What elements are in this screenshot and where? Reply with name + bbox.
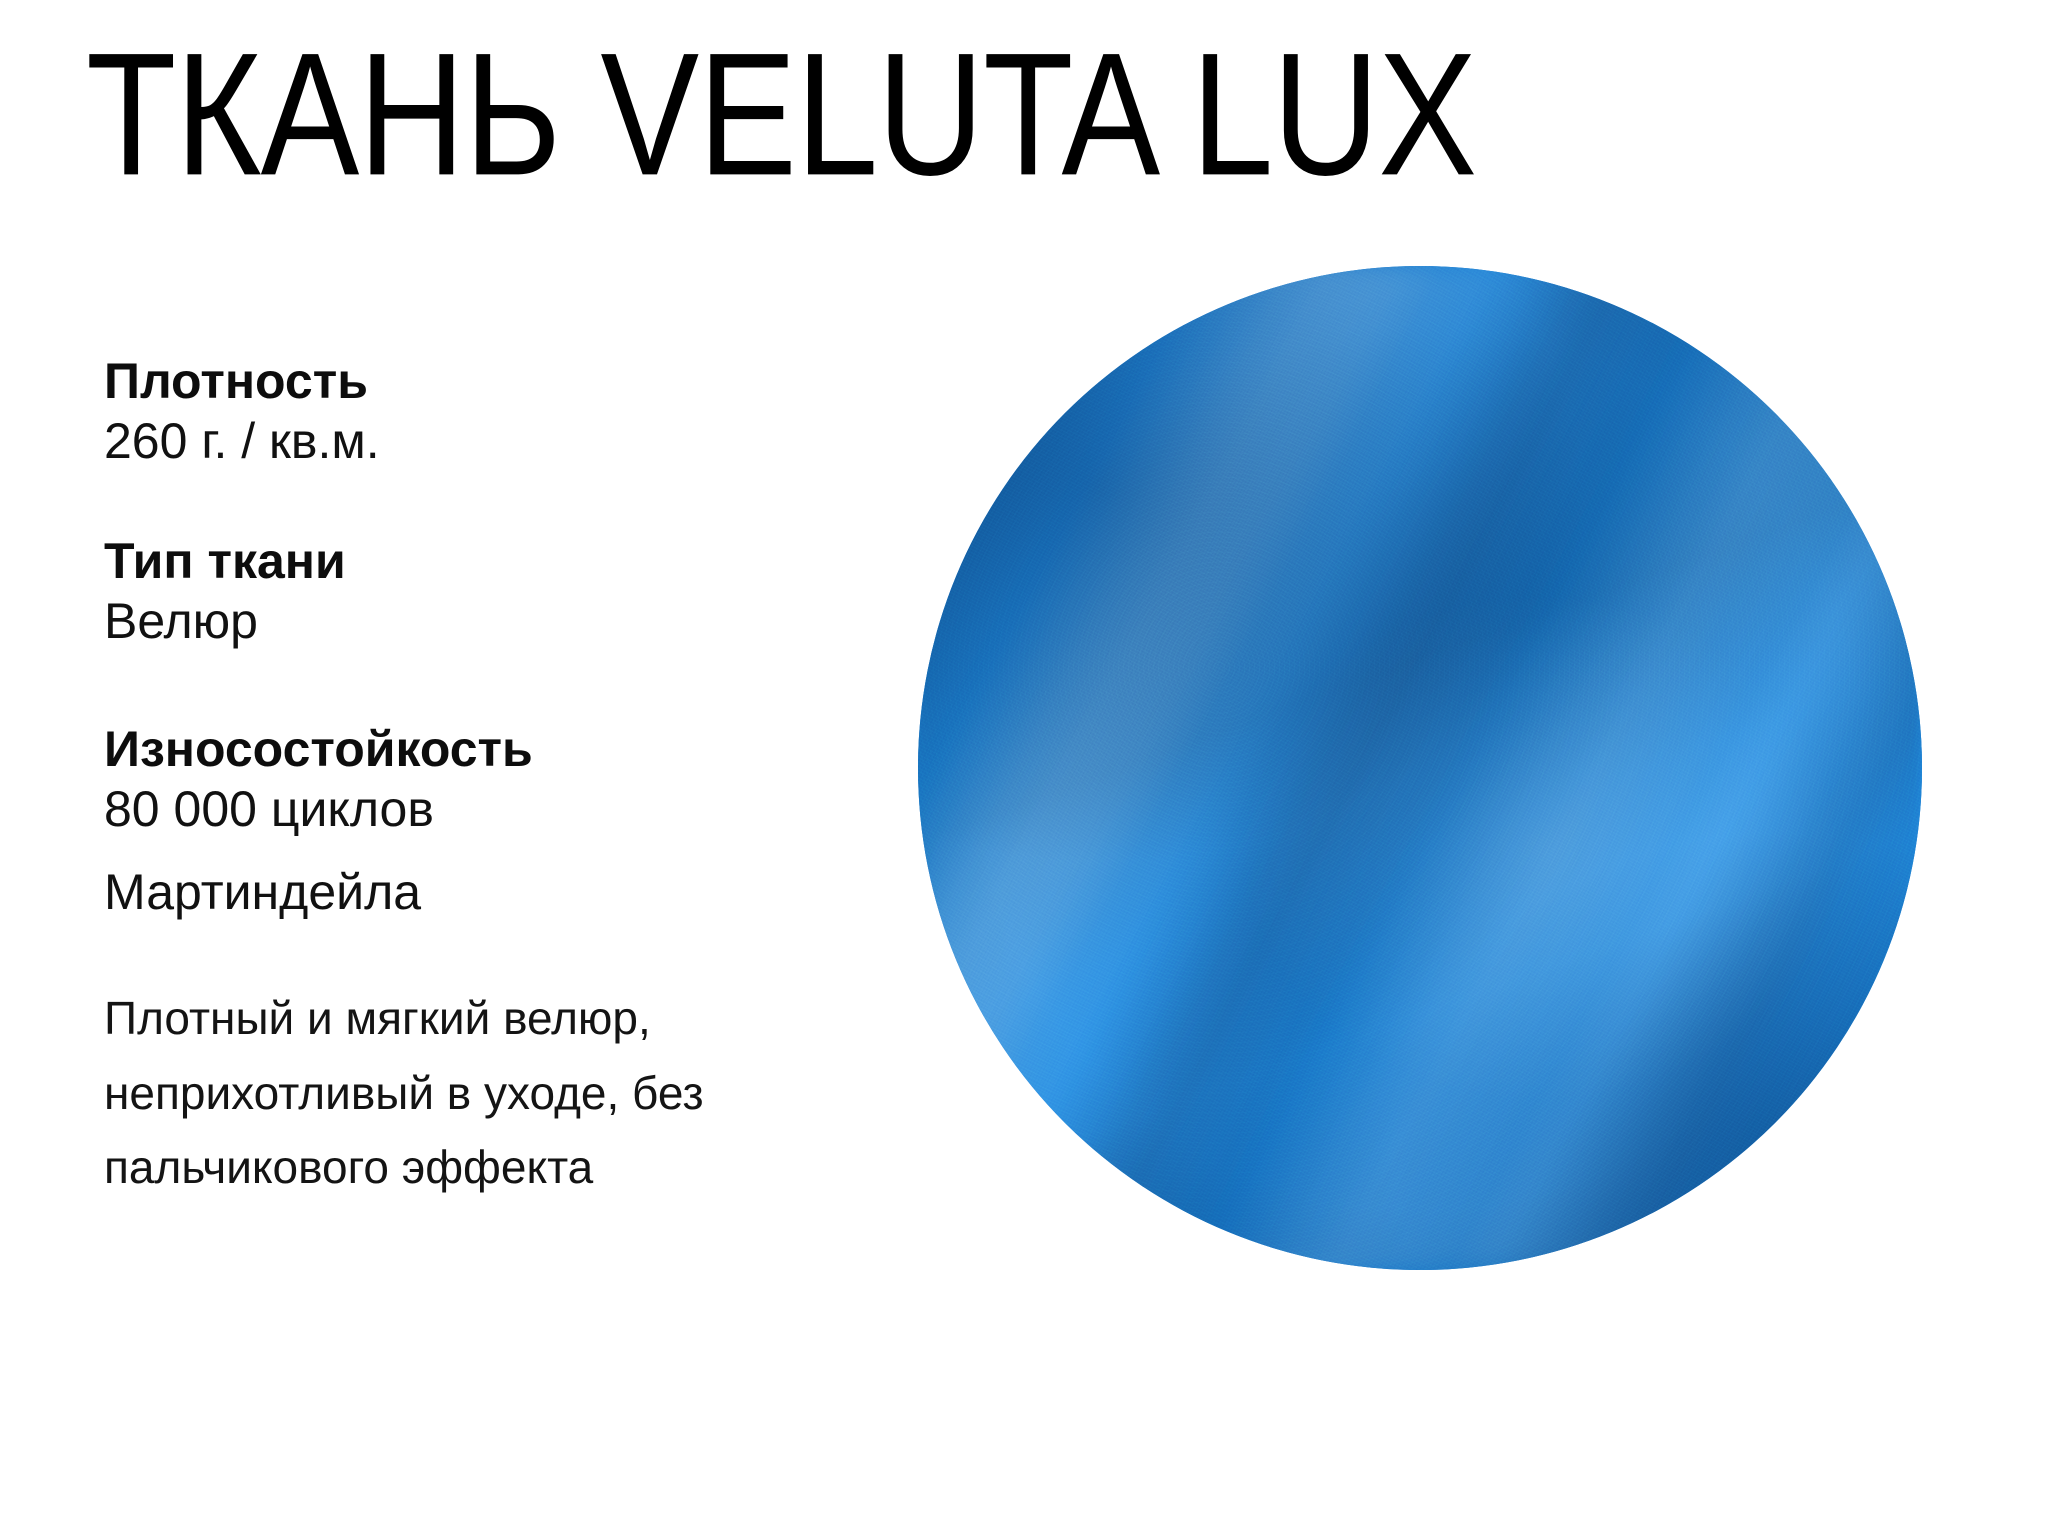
spec-label-wear-resistance: Износостойкость [104,720,984,779]
fabric-spec-card: ТКАНЬ VELUTA LUX Плотность 260 г. / кв.м… [0,0,2048,1536]
spec-label-density: Плотность [104,352,984,411]
fabric-swatch-image [918,266,1922,1270]
spec-block-fabric-type: Тип ткани Велюр [104,532,984,652]
spec-label-fabric-type: Тип ткани [104,532,984,591]
spec-value-density: 260 г. / кв.м. [104,411,984,472]
spec-value-wear-resistance-unit: Мартиндейла [104,862,984,923]
spec-block-density: Плотность 260 г. / кв.м. [104,352,984,472]
spec-block-wear-resistance: Износостойкость 80 000 циклов Мартиндейл… [104,720,984,923]
spec-value-wear-resistance: 80 000 циклов [104,779,984,840]
spec-list: Плотность 260 г. / кв.м. Тип ткани Велюр… [104,352,984,1205]
swatch-vignette [918,266,1922,1270]
spec-value-fabric-type: Велюр [104,591,984,652]
fabric-description: Плотный и мягкий велюр, неприхотливый в … [104,981,934,1205]
page-title: ТКАНЬ VELUTA LUX [86,28,1986,203]
